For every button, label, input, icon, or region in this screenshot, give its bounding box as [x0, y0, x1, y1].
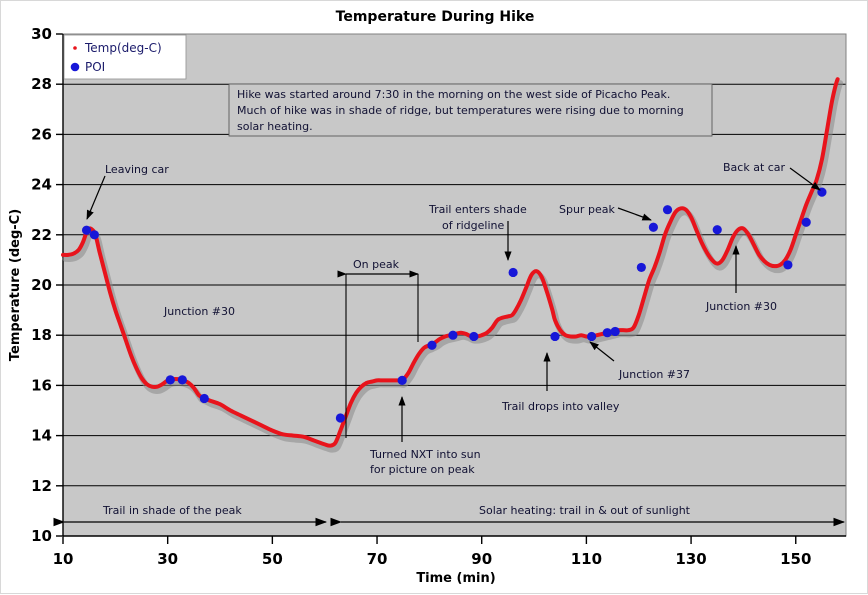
poi-marker[interactable]	[509, 268, 518, 277]
chart-legend: Temp(deg-C) POI	[64, 35, 186, 79]
note-line-1: Hike was started around 7:30 in the morn…	[237, 88, 670, 101]
y-tick-label: 26	[31, 125, 52, 143]
poi-marker[interactable]	[637, 263, 646, 272]
y-tick-label: 12	[31, 477, 52, 495]
x-tick-label: 130	[675, 550, 706, 568]
temperature-chart: 1012141618202224262830 10305070901101301…	[1, 1, 868, 595]
annotation-trail-drops: Trail drops into valley	[501, 400, 620, 413]
x-tick-label: 110	[571, 550, 602, 568]
poi-marker[interactable]	[649, 223, 658, 232]
x-tick-labels: 1030507090110130150	[53, 550, 812, 568]
x-tick-label: 10	[53, 550, 74, 568]
annotation-junction-30-left: Junction #30	[163, 305, 235, 318]
poi-marker[interactable]	[90, 230, 99, 239]
poi-marker[interactable]	[469, 332, 478, 341]
poi-marker[interactable]	[611, 327, 620, 336]
poi-marker[interactable]	[603, 328, 612, 337]
note-line-3: solar heating.	[237, 120, 313, 133]
poi-marker[interactable]	[178, 375, 187, 384]
annotation-spur-peak: Spur peak	[559, 203, 615, 216]
poi-marker[interactable]	[783, 260, 792, 269]
poi-marker[interactable]	[713, 225, 722, 234]
note-line-2: Much of hike was in shade of ridge, but …	[237, 104, 684, 117]
legend-swatch-poi	[71, 63, 80, 72]
poi-marker[interactable]	[427, 341, 436, 350]
x-tick-label: 70	[367, 550, 388, 568]
y-axis-title: Temperature (deg-C)	[8, 209, 23, 361]
poi-marker[interactable]	[200, 394, 209, 403]
poi-marker[interactable]	[802, 218, 811, 227]
x-axis-title: Time (min)	[416, 571, 495, 586]
legend-label-poi: POI	[85, 60, 105, 74]
y-tick-label: 22	[31, 226, 52, 244]
chart-title: Temperature During Hike	[336, 9, 535, 25]
x-tick-label: 50	[262, 550, 283, 568]
poi-marker[interactable]	[398, 376, 407, 385]
annotation-back-at-car: Back at car	[723, 161, 786, 174]
annotation-shade-span: Trail in shade of the peak	[102, 504, 242, 517]
y-tick-label: 10	[31, 527, 52, 545]
annotation-turned-nxt-1: Turned NXT into sun	[369, 448, 481, 461]
x-tick-label: 90	[471, 550, 492, 568]
poi-marker[interactable]	[336, 413, 345, 422]
poi-marker[interactable]	[587, 332, 596, 341]
x-tick-label: 30	[157, 550, 178, 568]
y-tick-label: 30	[31, 25, 52, 43]
annotation-on-peak: On peak	[353, 258, 400, 271]
poi-marker[interactable]	[82, 226, 91, 235]
y-tick-label: 16	[31, 376, 52, 394]
legend-swatch-temp	[73, 46, 77, 50]
x-tick-marks	[63, 536, 796, 544]
y-tick-labels: 1012141618202224262830	[31, 25, 52, 545]
poi-marker[interactable]	[166, 375, 175, 384]
annotation-leaving-car: Leaving car	[105, 163, 169, 176]
annotation-junction-30-right: Junction #30	[705, 300, 777, 313]
annotation-solar-span: Solar heating: trail in & out of sunligh…	[479, 504, 691, 517]
poi-marker[interactable]	[663, 205, 672, 214]
annotation-trail-enters-shade-2: of ridgeline	[442, 219, 504, 232]
y-tick-label: 20	[31, 276, 52, 294]
chart-container: 1012141618202224262830 10305070901101301…	[0, 0, 868, 594]
annotation-trail-enters-shade-1: Trail enters shade	[428, 203, 527, 216]
annotation-turned-nxt-2: for picture on peak	[370, 463, 475, 476]
annotation-junction-37: Junction #37	[618, 368, 690, 381]
note-box: Hike was started around 7:30 in the morn…	[229, 84, 712, 136]
x-tick-label: 150	[780, 550, 811, 568]
legend-label-temp: Temp(deg-C)	[84, 41, 162, 55]
y-tick-label: 24	[31, 176, 52, 194]
poi-marker[interactable]	[550, 332, 559, 341]
poi-marker[interactable]	[448, 331, 457, 340]
y-tick-label: 14	[31, 427, 52, 445]
y-tick-label: 18	[31, 326, 52, 344]
y-tick-label: 28	[31, 75, 52, 93]
